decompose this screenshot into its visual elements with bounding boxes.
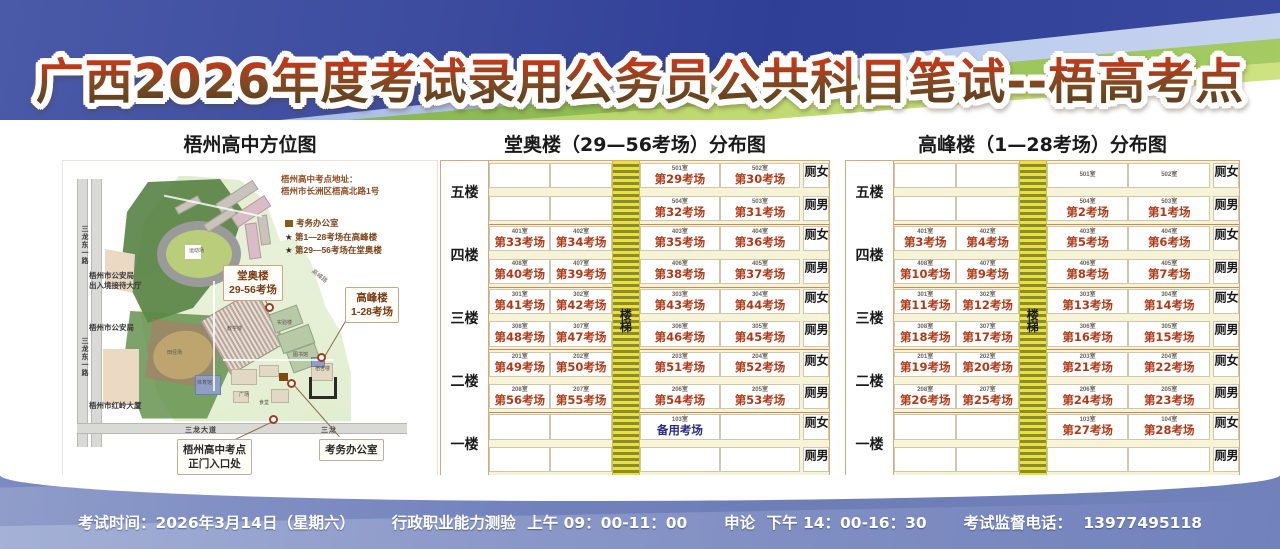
road-west-outer	[77, 179, 88, 447]
map-legend: 考务办公室★ 第1—28考场在高峰楼★ 第29—56考场在堂奥楼	[285, 217, 382, 258]
room-cell: 104室第28考场	[1128, 414, 1210, 439]
floor-label-3: 二楼	[846, 349, 893, 412]
exam-room-label: 第20考场	[962, 362, 1013, 374]
map-address-line: 梧州高中考点地址：	[281, 173, 379, 185]
toilet-label: 女厕	[1213, 414, 1239, 439]
callout-exam-office[interactable]: 考务办公室	[319, 439, 384, 461]
room-cell: 504室第32考场	[640, 196, 720, 221]
room-cell: 202室第20考场	[956, 352, 1018, 377]
exam-room-label: 第3考场	[904, 237, 947, 249]
exam-room-label: 第24考场	[1062, 395, 1113, 407]
map-legend-item: ★ 第1—28考场在高峰楼	[285, 231, 382, 245]
exam-room-label: 第7考场	[1148, 269, 1191, 281]
room-cell: 504室第2考场	[1047, 196, 1129, 221]
callout-line: 正门入口处	[183, 457, 246, 471]
exam-room-label: 第28考场	[1144, 425, 1195, 437]
exam-room-label: 第39考场	[556, 269, 607, 281]
exam-room-label: 第34考场	[556, 237, 607, 249]
room-cell	[550, 163, 611, 188]
room-cell: 503室第1考场	[1128, 196, 1210, 221]
room-cell: 304室第14考场	[1128, 289, 1210, 314]
room-cell: 301室第11考场	[894, 289, 956, 314]
room-cell: 303室第13考场	[1047, 289, 1129, 314]
floorplan-grid-gaofeng: 五楼501室502室女厕504室第2考场503室第1考场男厕四楼401室第3考场…	[846, 161, 1239, 475]
room-cell	[1128, 447, 1210, 472]
room-cell	[894, 163, 956, 188]
exam-room-label: 第30考场	[735, 174, 786, 186]
exam-room-label: 第43考场	[655, 300, 706, 312]
map-landmark-line: 出入境接待大厅	[89, 281, 142, 291]
room-cell: 304室第44考场	[720, 289, 800, 314]
room-cell: 203室第21考场	[1047, 352, 1129, 377]
exam-room-label: 第42考场	[556, 300, 607, 312]
exam-room-label: 第55考场	[556, 395, 607, 407]
room-cell	[489, 163, 550, 188]
map-address-line: 梧州市长洲区梧高北路1号	[281, 185, 379, 197]
exam-room-label: 第37考场	[735, 269, 786, 281]
legend-square-icon	[285, 220, 293, 227]
exam-room-label: 第29考场	[655, 174, 706, 186]
room-cell: 401室第33考场	[489, 226, 550, 251]
room-cell: 204室第52考场	[720, 352, 800, 377]
callout-line: 考务办公室	[325, 443, 378, 457]
room-cell: 402室第4考场	[956, 226, 1018, 251]
room-cell	[550, 447, 611, 472]
exam-room-label: 第44考场	[735, 300, 786, 312]
room-cell: 207室第55考场	[550, 384, 611, 409]
map-pin-tangao	[265, 303, 274, 312]
callout-line: 1-28考场	[351, 305, 393, 319]
map-inner-label: 食堂	[259, 401, 269, 407]
page-title: 广西2026年度考试录用公务员公共科目笔试--梧高考点	[0, 42, 1280, 112]
room-number: 401室	[512, 229, 528, 235]
toilet-label: 女厕	[1213, 163, 1239, 188]
exam-room-label: 第35考场	[655, 237, 706, 249]
toilet-label: 女厕	[803, 226, 829, 251]
room-cell: 303室第43考场	[640, 289, 720, 314]
footer-hotline-number: 13977495118	[1083, 514, 1202, 532]
callout-tangao[interactable]: 堂奥楼29-56考场	[223, 265, 283, 301]
room-number: 302室	[980, 292, 996, 298]
room-number: 304室	[752, 292, 768, 298]
map-landmark-label: 梧州市公安局出入境接待大厅	[89, 271, 142, 291]
map-inner-label: 运动场	[189, 249, 204, 255]
exam-room-label: 第16考场	[1062, 332, 1113, 344]
exam-room-label: 第26考场	[900, 395, 951, 407]
exam-room-label: 第45考场	[735, 332, 786, 344]
callout-line: 高峰楼	[351, 291, 393, 305]
room-cell: 302室第12考场	[956, 289, 1018, 314]
room-cell: 407室第9考场	[956, 259, 1018, 284]
room-cell: 307室第17考场	[956, 321, 1018, 346]
exam-room-label: 第15考场	[1144, 332, 1195, 344]
map-address-block: 梧州高中考点地址：梧州市长洲区梧高北路1号	[281, 173, 379, 198]
room-number: 404室	[1161, 229, 1177, 235]
exam-room-label: 第51考场	[655, 362, 706, 374]
room-cell: 201室第19考场	[894, 352, 956, 377]
exam-room-label: 第52考场	[735, 362, 786, 374]
room-number: 402室	[980, 229, 996, 235]
road-label-south: 三龙大道	[185, 425, 217, 435]
toilet-label: 女厕	[1213, 226, 1239, 251]
callout-gaofeng[interactable]: 高峰楼1-28考场	[345, 287, 399, 323]
exam-room-label: 第31考场	[735, 207, 786, 219]
legend-item-label: 第29—56考场在堂奥楼	[295, 245, 382, 255]
room-cell: 404室第36考场	[720, 226, 800, 251]
callout-line: 堂奥楼	[229, 269, 277, 283]
room-cell: 103室第27考场	[1047, 414, 1129, 439]
room-cell: 402室第34考场	[550, 226, 611, 251]
room-cell	[550, 196, 611, 221]
section-title-gaofeng: 高峰楼（1—28考场）分布图	[845, 130, 1240, 157]
poster-root: 广西2026年度考试录用公务员公共科目笔试--梧高考点 梧州高中方位图 堂奥楼（…	[0, 0, 1280, 549]
room-number: 303室	[1080, 292, 1096, 298]
room-cell	[956, 447, 1018, 472]
room-cell: 205室第23考场	[1128, 384, 1210, 409]
map-landmark-label: 梧州市公安局	[89, 323, 134, 333]
room-cell: 401室第3考场	[894, 226, 956, 251]
toilet-label: 男厕	[803, 384, 829, 409]
room-number: 402室	[573, 229, 589, 235]
path-2	[213, 281, 215, 391]
exam-room-label: 第8考场	[1066, 269, 1109, 281]
floor-label-4: 一楼	[846, 412, 893, 475]
exam-room-label: 第32考场	[655, 207, 706, 219]
room-number: 302室	[573, 292, 589, 298]
floorplan-grid-tangao: 五楼501室第29考场502室第30考场女厕504室第32考场503室第31考场…	[441, 161, 829, 475]
room-cell: 403室第5考场	[1047, 226, 1129, 251]
room-cell: 306室第16考场	[1047, 321, 1129, 346]
exam-room-label: 第2考场	[1066, 207, 1109, 219]
toilet-label: 男厕	[803, 321, 829, 346]
room-number: 504室	[1080, 199, 1096, 205]
room-cell	[894, 196, 956, 221]
road-label-west-2: 三龙东一路	[79, 337, 89, 377]
exam-room-label: 第18考场	[900, 332, 951, 344]
exam-room-label: 备用考场	[657, 425, 703, 437]
road-south	[77, 423, 407, 434]
room-cell: 301室第41考场	[489, 289, 550, 314]
toilet-label: 女厕	[1213, 289, 1239, 314]
footer-time-2: 下午 14：00-16：30	[767, 514, 927, 532]
floor-label-4: 一楼	[441, 412, 488, 475]
room-number: 304室	[1161, 292, 1177, 298]
map-landmark-line: 梧州市红岭大厦	[89, 401, 142, 411]
exam-room-label: 第47考场	[556, 332, 607, 344]
floor-label-0: 五楼	[441, 161, 488, 224]
map-pin-exam-office	[287, 379, 296, 388]
exam-room-label: 第41考场	[494, 300, 545, 312]
toilet-label: 女厕	[803, 289, 829, 314]
room-cell: 203室第51考场	[640, 352, 720, 377]
floor-label-2: 三楼	[441, 287, 488, 350]
exam-room-label: 第46考场	[655, 332, 706, 344]
stairway-label-char: 梯	[612, 321, 640, 334]
exam-room-label: 第6考场	[1148, 237, 1191, 249]
exam-room-label: 第48考场	[494, 332, 545, 344]
map-pin-gaofeng	[317, 353, 326, 362]
exam-room-label: 第1考场	[1148, 207, 1191, 219]
room-cell: 307室第47考场	[550, 321, 611, 346]
footer-banner: 考试时间：2026年3月14日（星期六） 行政职业能力测验 上午 09：00-1…	[0, 475, 1280, 549]
room-cell: 502室第30考场	[720, 163, 800, 188]
room-cell	[720, 447, 800, 472]
room-cell: 208室第26考场	[894, 384, 956, 409]
room-cell: 501室	[1047, 163, 1129, 188]
room-cell: 305室第45考场	[720, 321, 800, 346]
room-cell: 202室第50考场	[550, 352, 611, 377]
toilet-label: 男厕	[1213, 321, 1239, 346]
exam-room-label: 第5考场	[1066, 237, 1109, 249]
floorplan-table-gaofeng: 五楼501室502室女厕504室第2考场503室第1考场男厕四楼401室第3考场…	[845, 160, 1240, 476]
toilet-label: 男厕	[1213, 447, 1239, 472]
room-cell	[894, 447, 956, 472]
exam-room-label: 第4考场	[966, 237, 1009, 249]
room-number: 403室	[1080, 229, 1096, 235]
exam-room-label: 第11考场	[900, 300, 951, 312]
footer-hotline-label: 考试监督电话：	[963, 514, 1072, 532]
toilet-label: 女厕	[803, 163, 829, 188]
room-cell	[956, 163, 1018, 188]
room-cell: 208室第56考场	[489, 384, 550, 409]
building-plaza-1	[231, 369, 257, 385]
footer-info: 考试时间：2026年3月14日（星期六） 行政职业能力测验 上午 09：00-1…	[0, 511, 1280, 533]
room-cell: 406室第8考场	[1047, 259, 1129, 284]
exam-room-label: 第25考场	[962, 395, 1013, 407]
exam-room-label: 第36考场	[735, 237, 786, 249]
floor-label-divider	[893, 161, 894, 475]
toilet-label: 男厕	[1213, 384, 1239, 409]
stairway-label-char: 梯	[1019, 321, 1047, 334]
exam-room-label: 第40考场	[494, 269, 545, 281]
room-cell: 207室第25考场	[956, 384, 1018, 409]
map-inner-label: 田径场	[167, 351, 182, 357]
road-label-west-1: 三龙东一路	[79, 225, 89, 265]
toilet-label: 男厕	[803, 196, 829, 221]
toilet-label: 女厕	[803, 352, 829, 377]
room-cell: 502室	[1128, 163, 1210, 188]
room-cell: 408室第40考场	[489, 259, 550, 284]
room-cell: 308室第18考场	[894, 321, 956, 346]
exam-room-label: 第49考场	[494, 362, 545, 374]
room-cell: 405室第7考场	[1128, 259, 1210, 284]
exam-room-label: 第54考场	[655, 395, 706, 407]
exam-room-label: 第12考场	[962, 300, 1013, 312]
campus-map: 运动场田径场体育馆广场教学楼实验楼图书馆宿舍楼食堂三龙东一路三龙东一路三龙大道三…	[62, 160, 438, 476]
room-cell: 404室第6考场	[1128, 226, 1210, 251]
room-cell: 405室第37考场	[720, 259, 800, 284]
room-number: 501室	[1080, 172, 1096, 178]
map-canvas: 运动场田径场体育馆广场教学楼实验楼图书馆宿舍楼食堂三龙东一路三龙东一路三龙大道三…	[63, 161, 437, 475]
map-inner-label: 宿舍楼	[315, 367, 330, 373]
exam-room-label: 第19考场	[900, 362, 951, 374]
toilet-label: 男厕	[803, 259, 829, 284]
room-cell: 205室第53考场	[720, 384, 800, 409]
map-landmark-line: 梧州市公安局	[89, 323, 134, 333]
room-cell	[956, 196, 1018, 221]
callout-line: 梧州高中考点	[183, 443, 246, 457]
room-number: 303室	[672, 292, 688, 298]
room-cell	[894, 414, 956, 439]
room-cell	[1047, 447, 1129, 472]
map-inner-label: 广场	[239, 393, 249, 399]
map-pin-main-gate	[269, 415, 278, 424]
room-number: 401室	[917, 229, 933, 235]
room-cell: 306室第46考场	[640, 321, 720, 346]
map-legend-item: 考务办公室	[285, 217, 382, 231]
legend-item-label: 第1—28考场在高峰楼	[295, 232, 377, 242]
room-cell: 406室第38考场	[640, 259, 720, 284]
legend-star-icon: ★	[285, 232, 295, 242]
room-cell: 206室第24考场	[1047, 384, 1129, 409]
room-cell: 206室第54考场	[640, 384, 720, 409]
toilet-label: 男厕	[1213, 196, 1239, 221]
room-number: 502室	[1161, 172, 1177, 178]
room-cell: 204室第22考场	[1128, 352, 1210, 377]
room-cell: 403室第35考场	[640, 226, 720, 251]
room-number: 503室	[752, 199, 768, 205]
room-number: 504室	[672, 199, 688, 205]
legend-item-label: 考务办公室	[296, 218, 339, 228]
exam-room-label: 第53考场	[735, 395, 786, 407]
building-south-2	[271, 389, 289, 403]
room-cell: 501室第29考场	[640, 163, 720, 188]
room-cell	[489, 447, 550, 472]
toilet-label: 男厕	[1213, 259, 1239, 284]
exam-room-label: 第38考场	[655, 269, 706, 281]
exam-room-label: 第9考场	[966, 269, 1009, 281]
floor-label-1: 四楼	[846, 224, 893, 287]
exam-room-label: 第50考场	[556, 362, 607, 374]
footer-subject-1: 行政职业能力测验	[392, 514, 516, 532]
room-cell: 302室第42考场	[550, 289, 611, 314]
room-cell: 201室第49考场	[489, 352, 550, 377]
legend-star-icon: ★	[285, 245, 295, 255]
exam-room-label: 第21考场	[1062, 362, 1113, 374]
map-landmark-line: 梧州市公安局	[89, 271, 142, 281]
exam-room-label: 第23考场	[1144, 395, 1195, 407]
room-number: 403室	[672, 229, 688, 235]
exam-room-label: 第33考场	[494, 237, 545, 249]
stairway-label: 楼梯	[1019, 309, 1047, 334]
exam-room-label: 第13考场	[1062, 300, 1113, 312]
footer-subject-2: 申论	[724, 514, 755, 532]
section-title-tangao: 堂奥楼（29—56考场）分布图	[440, 130, 830, 157]
footer-exam-time-label: 考试时间：2026年3月14日（星期六）	[78, 514, 355, 532]
callout-line: 29-56考场	[229, 283, 277, 297]
room-cell: 103室备用考场	[640, 414, 720, 439]
map-inner-label: 教学楼	[227, 327, 242, 333]
map-inner-label: 体育馆	[197, 381, 212, 387]
room-number: 301室	[512, 292, 528, 298]
toilet-label: 女厕	[1213, 352, 1239, 377]
room-cell	[550, 414, 611, 439]
stairway-label: 楼梯	[612, 309, 640, 334]
exam-room-label: 第22考场	[1144, 362, 1195, 374]
map-landmark-label: 梧州市红岭大厦	[89, 401, 142, 411]
room-cell	[720, 414, 800, 439]
room-cell	[640, 447, 720, 472]
west-block-2	[103, 349, 139, 405]
room-cell: 305室第15考场	[1128, 321, 1210, 346]
section-title-map: 梧州高中方位图	[60, 130, 440, 157]
floor-label-2: 三楼	[846, 287, 893, 350]
exam-room-label: 第56考场	[494, 395, 545, 407]
building-plaza-2	[259, 365, 279, 377]
floorplan-table-tangao: 五楼501室第29考场502室第30考场女厕504室第32考场503室第31考场…	[440, 160, 830, 476]
exam-room-label: 第27考场	[1062, 425, 1113, 437]
map-inner-label: 图书馆	[293, 353, 308, 359]
room-cell: 503室第31考场	[720, 196, 800, 221]
exam-office-marker	[279, 373, 288, 381]
toilet-label: 男厕	[803, 447, 829, 472]
room-number: 503室	[1161, 199, 1177, 205]
south-east-structure	[309, 377, 337, 399]
room-cell	[956, 414, 1018, 439]
room-cell: 308室第48考场	[489, 321, 550, 346]
exam-room-label: 第17考场	[962, 332, 1013, 344]
footer-time-1: 上午 09：00-11：00	[527, 514, 687, 532]
callout-main-gate[interactable]: 梧州高中考点正门入口处	[177, 439, 252, 475]
map-legend-item: ★ 第29—56考场在堂奥楼	[285, 244, 382, 258]
room-number: 301室	[917, 292, 933, 298]
room-number: 404室	[752, 229, 768, 235]
toilet-label: 女厕	[803, 414, 829, 439]
exam-room-label: 第10考场	[900, 269, 951, 281]
floor-label-1: 四楼	[441, 224, 488, 287]
floor-label-3: 二楼	[441, 349, 488, 412]
room-cell: 407室第39考场	[550, 259, 611, 284]
map-inner-label: 实验楼	[277, 321, 292, 327]
floor-label-divider	[488, 161, 489, 475]
exam-room-label: 第14考场	[1144, 300, 1195, 312]
room-cell	[489, 196, 550, 221]
floor-label-0: 五楼	[846, 161, 893, 224]
room-cell	[489, 414, 550, 439]
room-cell: 408室第10考场	[894, 259, 956, 284]
